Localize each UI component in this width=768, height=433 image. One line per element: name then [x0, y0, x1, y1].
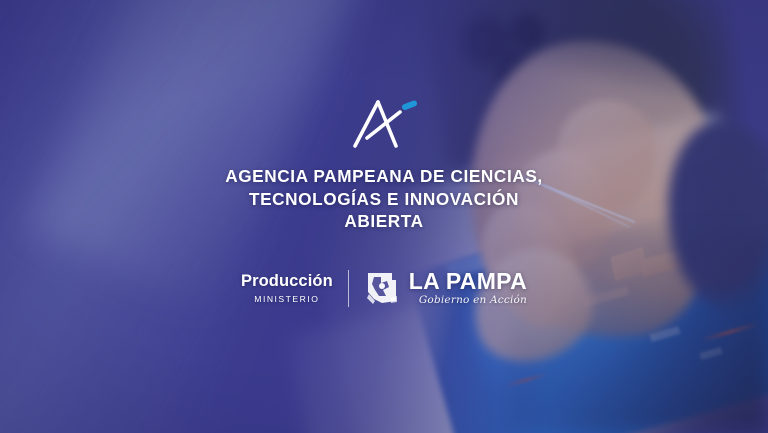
government-logo-lockup: Producción MINISTERIO LA PAMPA Gobierno … [241, 268, 527, 308]
province-block: LA PAMPA Gobierno en Acción [362, 268, 527, 308]
page-title: AGENCIA PAMPEANA DE CIENCIAS, TECNOLOGÍA… [225, 165, 543, 233]
lockup-divider [348, 270, 349, 307]
province-tagline: Gobierno en Acción [409, 295, 527, 306]
province-name: LA PAMPA [409, 270, 527, 293]
hero-content: AGENCIA PAMPEANA DE CIENCIAS, TECNOLOGÍA… [0, 0, 768, 433]
page-title-line-3: ABIERTA [225, 210, 543, 233]
page-title-line-1: AGENCIA PAMPEANA DE CIENCIAS, [225, 165, 543, 188]
province-words: LA PAMPA Gobierno en Acción [409, 270, 527, 306]
hero-banner: AGENCIA PAMPEANA DE CIENCIAS, TECNOLOGÍA… [0, 0, 768, 433]
agency-a-mark-icon [351, 96, 417, 148]
ministry-subtitle: MINISTERIO [241, 295, 333, 304]
page-title-line-2: TECNOLOGÍAS E INNOVACIÓN [225, 188, 543, 211]
ministry-block: Producción MINISTERIO [241, 273, 335, 304]
ministry-title: Producción [241, 273, 333, 290]
la-pampa-province-emblem-icon [362, 268, 402, 308]
